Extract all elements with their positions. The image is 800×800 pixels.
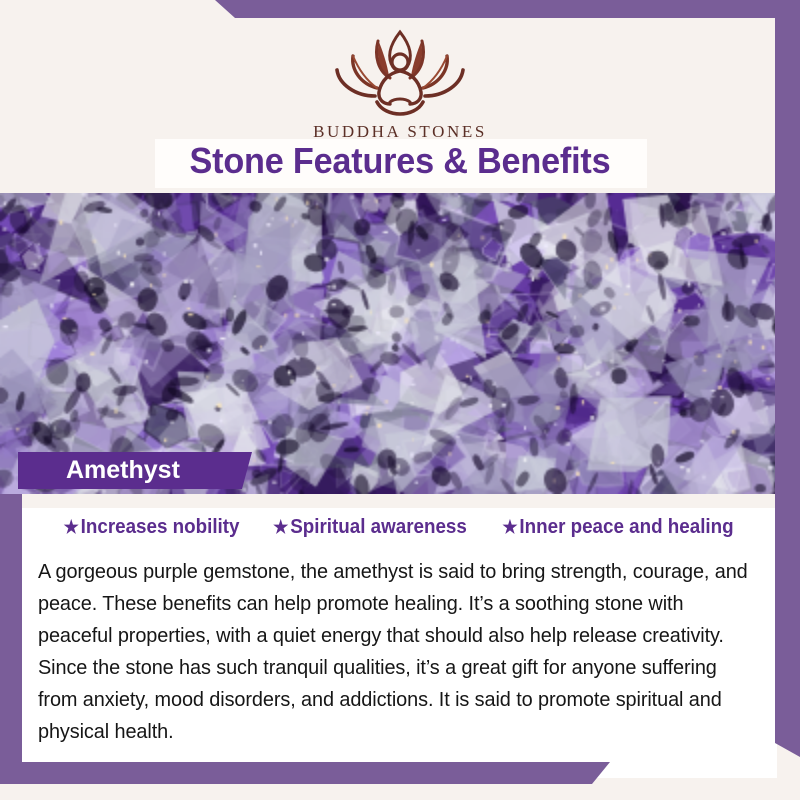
- stone-features-poster: BUDDHA STONES Stone Features & Benefits …: [0, 0, 800, 800]
- frame-accent-left: [0, 494, 22, 784]
- star-icon: ★: [273, 518, 288, 536]
- frame-accent-right: [775, 0, 800, 757]
- benefits-list: ★ Increases nobility ★ Spiritual awarene…: [22, 516, 777, 539]
- description-paragraph: A gorgeous purple gemstone, the amethyst…: [38, 556, 756, 748]
- frame-accent-top: [215, 0, 800, 18]
- amethyst-photo: [0, 193, 800, 494]
- benefit-label: Increases nobility: [81, 516, 240, 539]
- benefit-label: Spiritual awareness: [290, 516, 467, 539]
- benefit-item: ★ Inner peace and healing: [502, 516, 733, 539]
- content-top-divider: [22, 494, 777, 508]
- stone-name-banner: Amethyst: [18, 452, 252, 489]
- star-icon: ★: [502, 518, 517, 536]
- page-title: Stone Features & Benefits: [20, 140, 780, 182]
- benefit-label: Inner peace and healing: [519, 516, 733, 539]
- content-section: ★ Increases nobility ★ Spiritual awarene…: [22, 494, 777, 778]
- benefit-item: ★ Increases nobility: [64, 516, 240, 539]
- amethyst-photo-canvas: [0, 193, 800, 494]
- frame-accent-bottom: [0, 762, 610, 784]
- stone-name-label: Amethyst: [66, 456, 180, 485]
- header-section: BUDDHA STONES Stone Features & Benefits: [0, 0, 800, 193]
- brand-logo: BUDDHA STONES: [0, 22, 800, 142]
- star-icon: ★: [64, 518, 79, 536]
- benefit-item: ★ Spiritual awareness: [273, 516, 467, 539]
- lotus-meditation-icon: [315, 22, 485, 118]
